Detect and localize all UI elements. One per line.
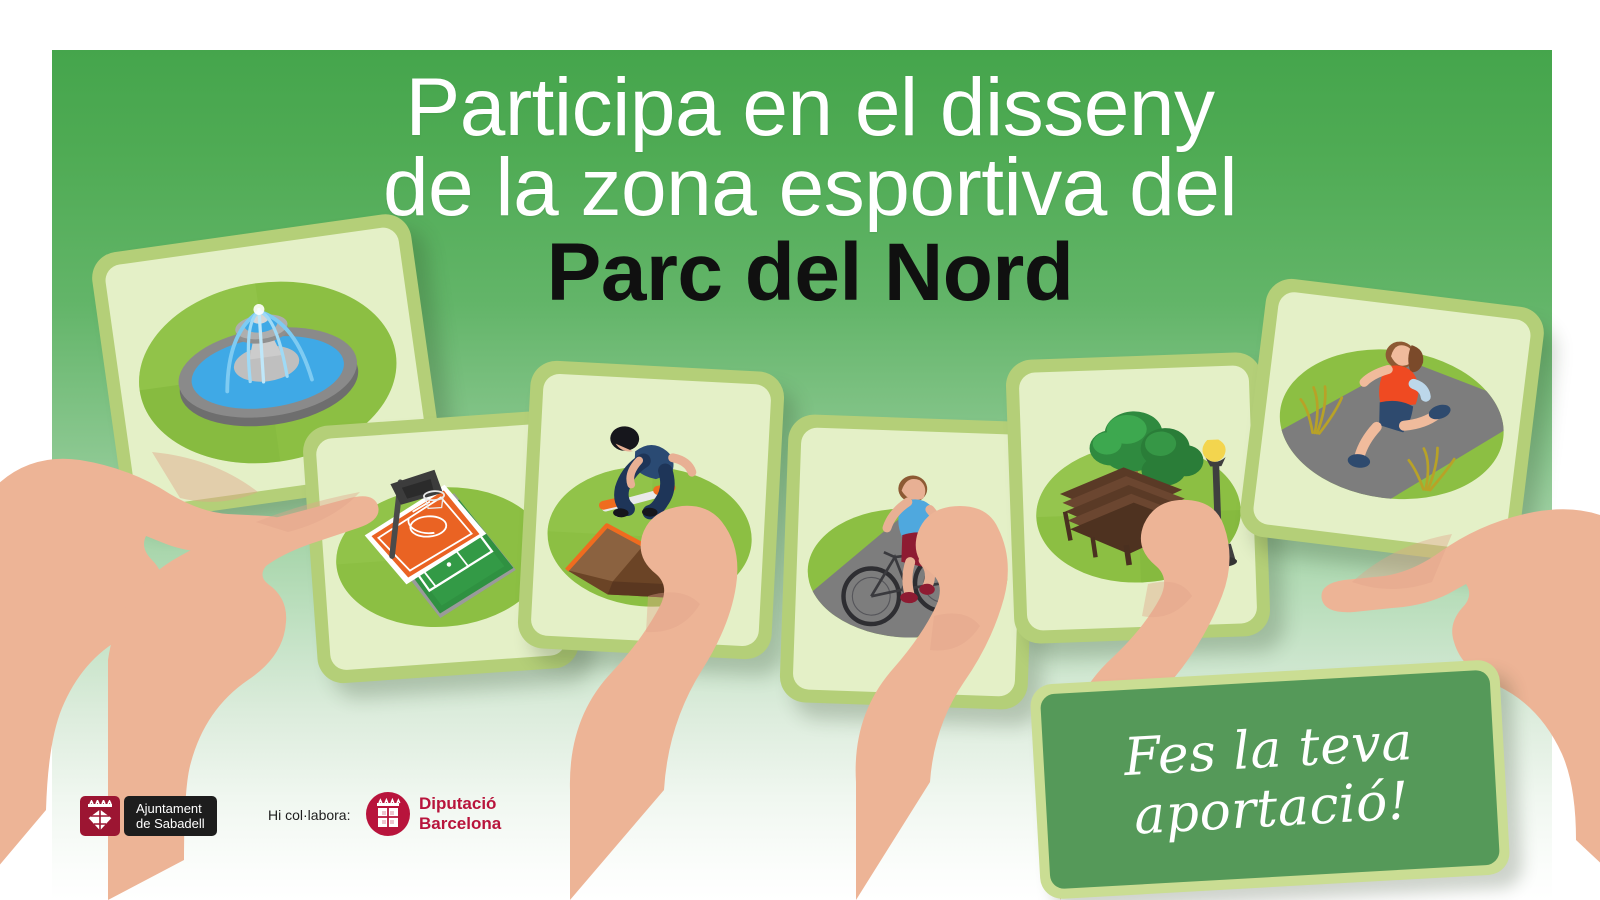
- diputacio-shield-icon: [373, 798, 403, 830]
- bike-path-illustration: [792, 427, 1023, 697]
- collaborator-label: Hi col·labora:: [268, 807, 350, 823]
- skatepark-card[interactable]: [517, 360, 786, 661]
- skatepark-illustration: [530, 373, 771, 647]
- diputacio-crest-icon: [366, 792, 410, 836]
- sabadell-logo[interactable]: Ajuntament de Sabadell: [80, 796, 217, 836]
- diputacio-logo-text: Diputació Barcelona: [419, 794, 501, 834]
- skatepark-card-inner: [530, 373, 771, 647]
- headline-line-1: Participa en el disseny: [180, 68, 1440, 148]
- diputacio-logo[interactable]: Diputació Barcelona: [366, 792, 501, 836]
- bike-path-card-inner: [792, 427, 1023, 697]
- bench-tree-card-inner: [1019, 365, 1258, 631]
- footer-logos: Ajuntament de Sabadell Hi col·labora: Di…: [0, 782, 1600, 862]
- headline-line-2: de la zona esportiva del: [180, 148, 1440, 228]
- sabadell-shield-icon: [85, 800, 115, 832]
- sabadell-logo-text: Ajuntament de Sabadell: [124, 796, 217, 836]
- bench-tree-card[interactable]: [1005, 352, 1271, 645]
- diputacio-line-1: Diputació: [419, 794, 496, 813]
- running-path-card[interactable]: [1237, 276, 1547, 568]
- diputacio-line-2: Barcelona: [419, 814, 501, 833]
- running-path-card-inner: [1252, 290, 1533, 553]
- bench-tree-illustration: [1019, 365, 1258, 631]
- running-path-illustration: [1252, 290, 1533, 553]
- sabadell-crest-icon: [80, 796, 120, 836]
- banner-canvas: Participa en el disseny de la zona espor…: [0, 0, 1600, 900]
- sabadell-line-2: de Sabadell: [136, 816, 205, 831]
- cta-box[interactable]: Fes la teva aportació!: [1029, 659, 1510, 900]
- sabadell-line-1: Ajuntament: [136, 801, 205, 816]
- bike-path-card[interactable]: [779, 414, 1037, 710]
